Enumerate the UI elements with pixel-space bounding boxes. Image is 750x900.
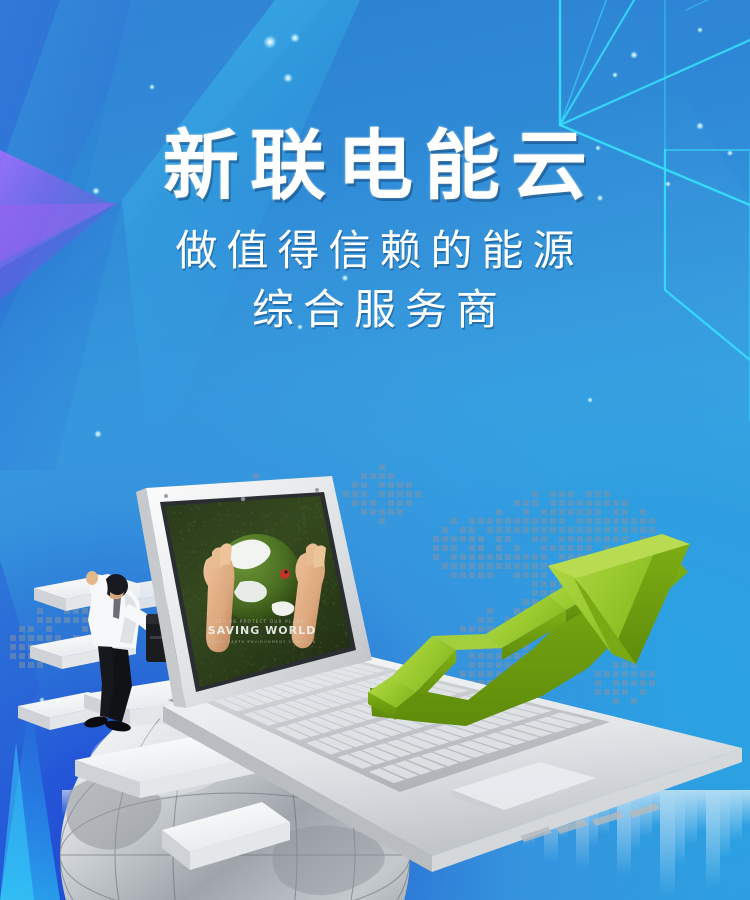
laptop-screen-caption: SAVING WORLD — [208, 624, 316, 637]
poster-root: SAVING WORLD LET US PROTECT OUR PLANET G… — [0, 0, 750, 900]
svg-text:GREEN EARTH ENVIRONMENT CAMPAI: GREEN EARTH ENVIRONMENT CAMPAIGN — [208, 640, 317, 644]
svg-text:LET US PROTECT OUR PLANET: LET US PROTECT OUR PLANET — [215, 619, 308, 624]
background-graphics: SAVING WORLD LET US PROTECT OUR PLANET G… — [0, 0, 750, 900]
